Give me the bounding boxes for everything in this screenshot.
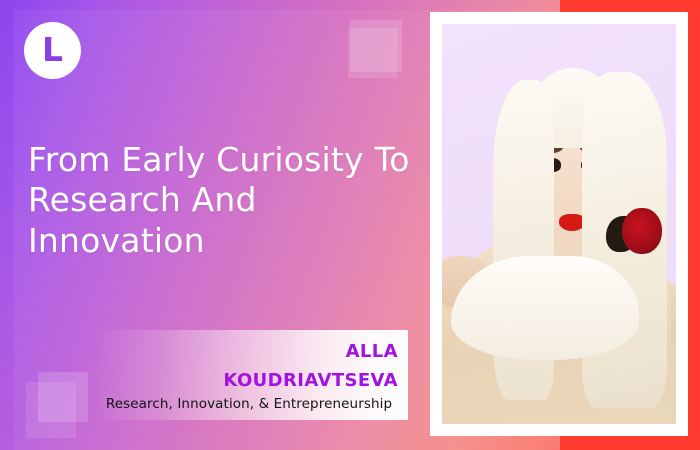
- speaker-nameplate: Alla Koudriavtseva Research, Innovation,…: [92, 330, 408, 420]
- deco-square-top-right-b: [348, 28, 398, 78]
- photo-lips: [559, 214, 585, 231]
- photo-fur-stole: [451, 256, 638, 360]
- page-title: From Early Curiosity To Research And Inn…: [28, 140, 428, 261]
- brand-logo-badge: L: [24, 22, 81, 79]
- brand-logo-l-icon: L: [42, 33, 63, 66]
- speaker-first-name: Alla: [100, 336, 398, 361]
- speaker-subtitle: Research, Innovation, & Entrepreneurship: [100, 396, 398, 412]
- deco-square-bottom-left-b: [26, 382, 76, 438]
- portrait-photo-frame: [430, 12, 688, 436]
- portrait-photo: [442, 24, 676, 424]
- speaker-last-name: Koudriavtseva: [100, 365, 398, 390]
- presentation-banner: L From Early Curiosity To Research And I…: [0, 0, 700, 450]
- photo-red-rose: [622, 208, 662, 254]
